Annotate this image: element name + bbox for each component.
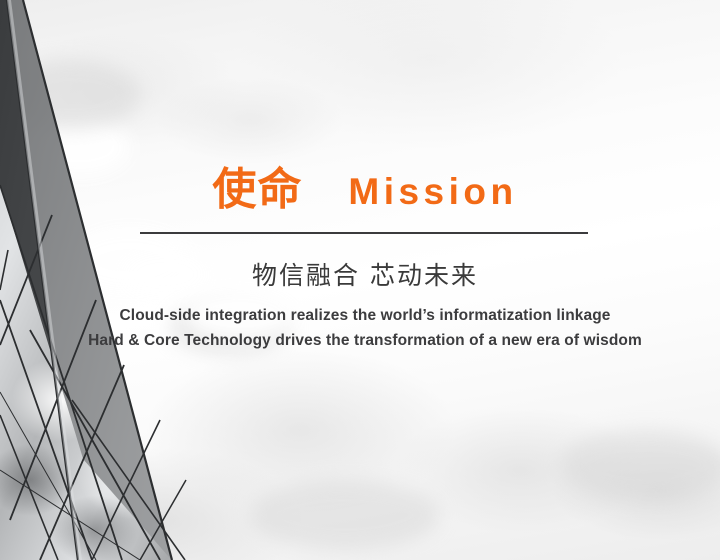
tagline-line-2: Hard & Core Technology drives the transf… [60, 328, 670, 353]
mission-banner: 使命 Mission 物信融合 芯动未来 Cloud-side integrat… [0, 0, 720, 560]
subtitle-chinese: 物信融合 芯动未来 [140, 256, 590, 292]
heading-chinese: 使命 [212, 168, 302, 212]
tagline-line-1: Cloud-side integration realizes the worl… [60, 303, 670, 328]
heading-english: Mission [348, 173, 517, 210]
banner-content: 使命 Mission 物信融合 芯动未来 Cloud-side integrat… [0, 0, 720, 560]
heading-divider [140, 232, 588, 234]
banner-heading: 使命 Mission [140, 168, 590, 212]
tagline-block: Cloud-side integration realizes the worl… [60, 303, 670, 353]
